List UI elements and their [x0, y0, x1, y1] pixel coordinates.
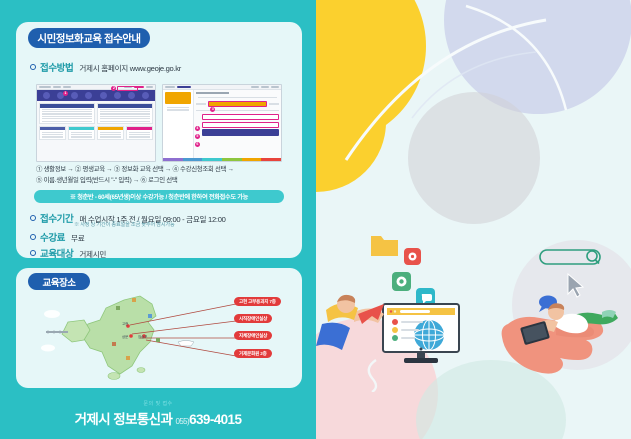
svg-text:장승포: 장승포	[138, 334, 147, 339]
footer-strip	[163, 158, 281, 161]
person-with-arrow	[316, 295, 384, 350]
svg-text:상문: 상문	[122, 334, 128, 339]
step-line-2: ⑤ 이름.생년월일 입력(반드시 "-" 입력) → ⑥ 로그인 선택	[36, 176, 234, 187]
row-fee-label: 수강료	[40, 230, 65, 244]
row-period-label: 접수기간	[40, 211, 73, 225]
site-nav	[37, 90, 155, 101]
map-tag-1: 고현 고부용과지 7층	[234, 297, 281, 306]
row-fee-value: 무료	[71, 233, 84, 244]
row-method: 접수방법 거제시 홈페이지 www.geoje.go.kr	[30, 60, 181, 74]
period-subnote: ※ 사정 상 기간이 종료일을 조금 늦추어 잠시가능	[74, 221, 175, 228]
header-badge: 시민정보화교육 접수안내	[28, 28, 150, 48]
bullet-icon	[30, 234, 36, 240]
row-method-value: 거제시 홈페이지 www.geoje.go.kr	[79, 63, 181, 74]
hero-illustration	[316, 232, 631, 392]
bullet-icon	[30, 250, 36, 256]
cable-doodle	[369, 360, 376, 392]
map-tag-4: 거제문화원 2층	[234, 349, 272, 358]
row-target-value: 거제시민	[79, 249, 106, 260]
monitor	[383, 304, 459, 363]
right-panel: 시민정보화교육 바로가기 나도한다 디지털! 디지털 시대의 핵심역량 2026…	[316, 0, 631, 439]
poster-root: 시민정보화교육 접수안내 접수방법 거제시 홈페이지 www.geoje.go.…	[0, 0, 631, 439]
row-method-label: 접수방법	[40, 60, 73, 74]
site-content	[37, 101, 155, 161]
step-line-1: ① 생활정보 → ② 평생교육 → ③ 정보화 교육 선택 → ④ 수강신청조회…	[36, 165, 234, 176]
contact-subtitle: 문의 및 접수	[0, 400, 316, 407]
side-menu	[163, 90, 194, 161]
svg-text:고현: 고현	[122, 321, 128, 326]
search-bar	[540, 250, 600, 297]
screenshot-thumb-1[interactable]: 1 2	[36, 84, 156, 162]
geoje-map: 고현 상문 장승포 고현 고부용과지 7층 시직장애인실상 지체장애인실상 거제…	[28, 292, 290, 380]
form-area	[194, 90, 281, 161]
steps-text: ① 생활정보 → ② 평생교육 → ③ 정보화 교육 선택 → ④ 수강신청조회…	[36, 165, 234, 186]
highlight-box	[117, 86, 138, 91]
row-target-label: 교육대상	[40, 246, 73, 260]
row-fee: 수강료 무료	[30, 230, 84, 244]
step-marker-6: 6	[195, 142, 200, 147]
hand-with-person	[502, 303, 618, 373]
contact-area-code: 055)	[175, 417, 189, 426]
bullet-icon	[30, 215, 36, 221]
app-icons	[371, 236, 435, 307]
contact-line: 거제시 정보통신과 055)639-4015	[0, 408, 316, 428]
map-tag-3: 지체장애인실상	[234, 331, 272, 340]
row-target: 교육대상 거제시민	[30, 246, 106, 260]
step-marker-4: 4	[195, 126, 200, 131]
step-marker-1: 1	[63, 91, 68, 96]
step-marker-5: 5	[195, 134, 200, 139]
screenshot-gallery: 1 2	[36, 84, 282, 162]
screenshot-thumb-2[interactable]: 3 4 5 6	[162, 84, 282, 162]
place-badge: 교육장소	[28, 273, 90, 290]
contact-phone: 639-4015	[189, 412, 241, 427]
age-note-pill: ※ 청춘반 - 60세(65년생)이상 수강가능 / 청춘반에 한하여 전화접수…	[34, 190, 284, 203]
bullet-icon	[30, 64, 36, 70]
map-tag-2: 시직장애인실상	[234, 314, 272, 323]
contact-dept: 거제시 정보통신과	[75, 412, 173, 427]
gray-blob	[408, 92, 540, 224]
left-panel: 시민정보화교육 접수안내 접수방법 거제시 홈페이지 www.geoje.go.…	[0, 0, 316, 439]
